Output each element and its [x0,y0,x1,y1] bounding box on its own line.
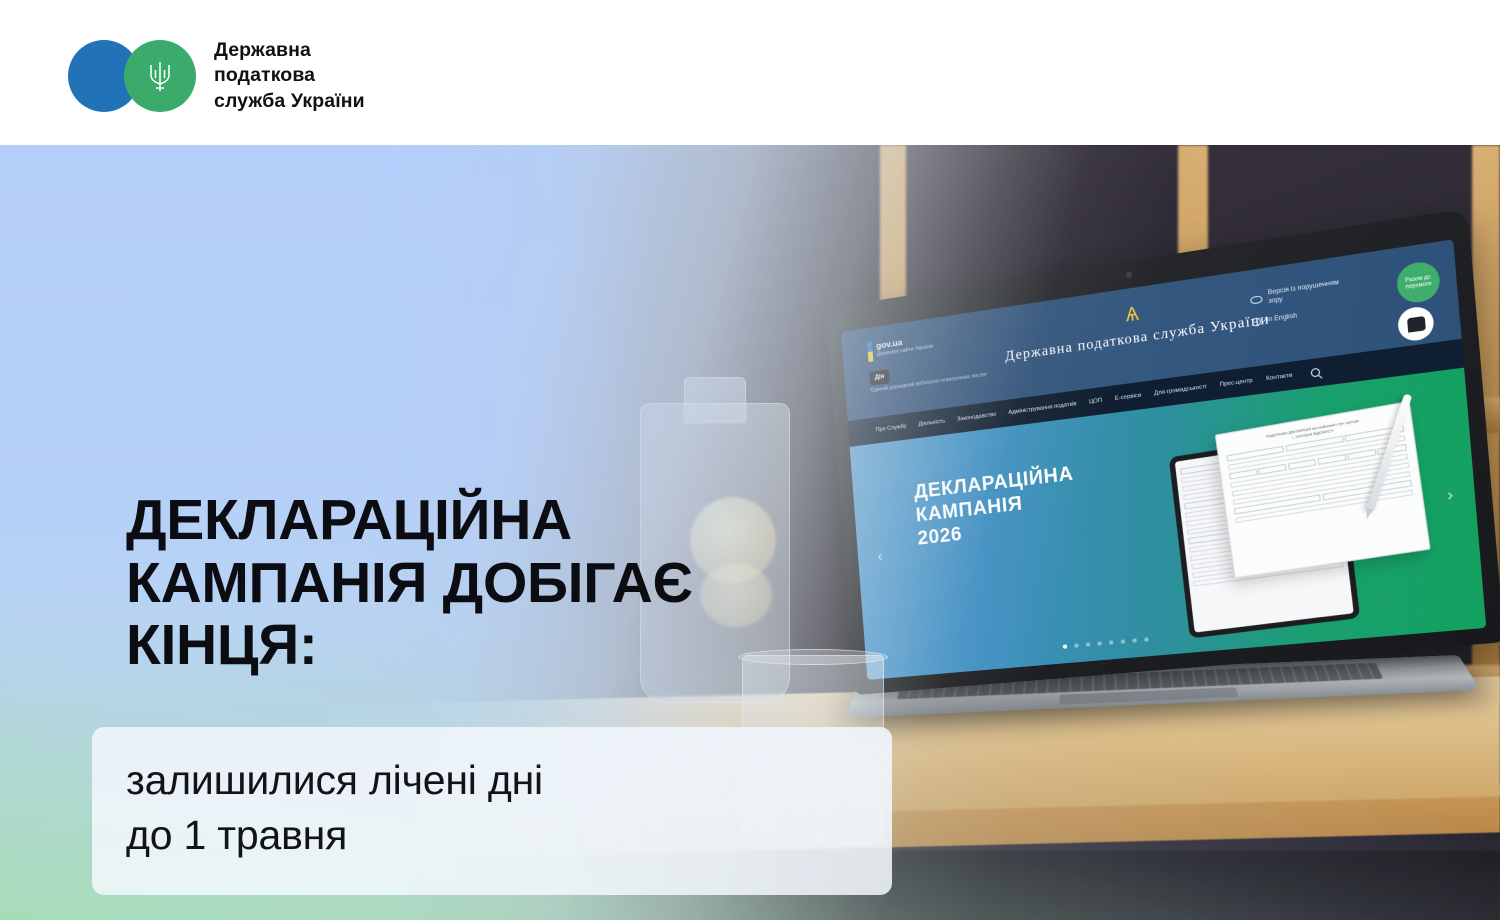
organization-name: Державна податкова служба України [214,38,365,114]
header-band: Державна податкова служба України [0,0,1500,145]
laptop-screen: gov.ua Державні сайти України Дія Єдиний… [841,239,1486,680]
nav-item-8[interactable]: Контакти [1266,372,1293,382]
nav-item-0[interactable]: Про Службу [876,423,907,433]
page-subtitle: залишилися лічені дні до 1 травня [126,753,543,862]
carousel-dot[interactable] [1121,639,1126,644]
carousel-dot[interactable] [1132,638,1137,643]
nav-item-5[interactable]: Е-сервіси [1115,392,1142,402]
globe-icon [1252,317,1262,327]
nav-item-2[interactable]: Законодавство [957,412,997,423]
laptop: gov.ua Державні сайти України Дія Єдиний… [855,305,1455,735]
trident-icon [147,58,173,94]
nav-item-7[interactable]: Прес-центр [1219,378,1253,389]
carousel-dot[interactable] [1097,641,1102,646]
logo-green-circle [124,40,196,112]
logo-marks [68,40,196,112]
poster-root: Державна податкова служба України [0,0,1500,920]
photo-scene: gov.ua Державні сайти України Дія Єдиний… [0,145,1500,920]
carousel-prev-icon[interactable]: ‹ [877,548,883,566]
carousel-dots [1063,637,1149,649]
carousel-dot[interactable] [1144,637,1149,642]
carousel-dot[interactable] [1063,644,1067,649]
eye-icon [1250,295,1263,304]
nav-item-1[interactable]: Діяльність [918,418,945,428]
slide-title: ДЕКЛАРАЦІЙНА КАМПАНІЯ 2026 [913,462,1078,551]
chat-icon [1406,315,1425,332]
carousel-next-icon[interactable]: › [1446,485,1454,504]
webcam-icon [1126,271,1133,278]
chat-button[interactable] [1397,305,1435,343]
nav-item-6[interactable]: Для громадськості [1154,384,1207,397]
carousel-dot[interactable] [1086,642,1091,647]
carousel-dot[interactable] [1109,640,1114,645]
glass-rim [738,649,888,665]
nav-item-4[interactable]: ЦОП [1089,398,1103,406]
search-icon[interactable] [1310,368,1320,378]
victory-badge-label: Разом до перемоги [1400,273,1437,291]
organization-logo: Державна податкова служба України [68,38,365,114]
carousel-dot[interactable] [1074,643,1079,648]
language-link[interactable]: In English [1252,305,1350,328]
nav-item-3[interactable]: Адміністрування податків [1008,401,1077,416]
page-title: ДЕКЛАРАЦІЙНА КАМПАНІЯ ДОБІГАЄ КІНЦЯ: [126,489,693,677]
language-label: In English [1266,312,1297,325]
subtitle-panel: залишилися лічені дні до 1 травня [92,727,892,895]
lemon-slice [700,563,772,627]
